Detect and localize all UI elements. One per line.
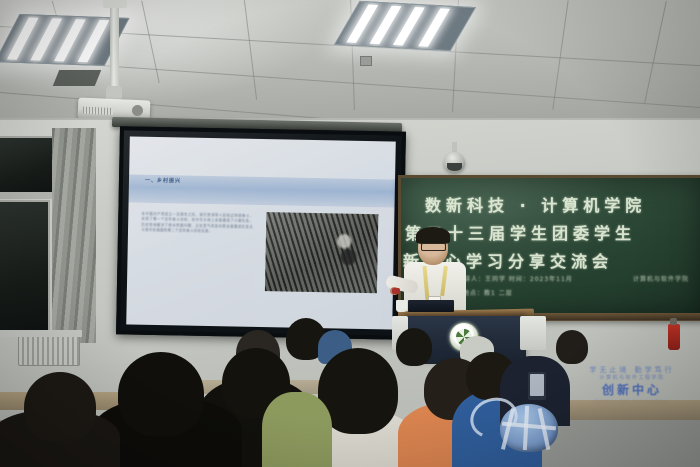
window-frame [0,192,56,199]
presenter-laptop[interactable] [408,300,454,312]
classroom-window [0,136,54,198]
red-laser-pointer [392,288,400,294]
classroom-window [0,200,50,336]
projection-screen[interactable]: 一、乡村振兴 在中国共产党成立一百周年之际，我们党领导人民经过持续奋斗，实现了第… [116,126,406,339]
fluorescent-panel-right [334,1,476,51]
audience-head [118,352,204,436]
poster-line-1: 学无止境 勤学笃行 [572,366,692,374]
blackboard-subline-1: 主讲人：王同学 时间：2023年11月 [457,274,573,283]
podium-panel-right [520,316,546,350]
projector-pole-flange [103,0,127,8]
window-sill [0,330,82,337]
classroom-photo: 一、乡村振兴 在中国共产党成立一百周年之际，我们党领导人民经过持续奋斗，实现了第… [0,0,700,467]
dome-security-camera [444,152,465,172]
blackboard-subline-2: 地点：教1 二层 [463,288,513,297]
fire-extinguisher-valve [670,318,677,325]
desk-phone-screen [530,374,544,396]
blackboard-line-1: 数新科技 · 计算机学院 [425,192,646,216]
audience-head [396,328,432,366]
slide-body-text: 在中国共产党成立一百周年之际，我们党领导人民经过持续奋斗，实现了第一个百年奋斗目… [141,212,253,235]
presentation-slide: 一、乡村振兴 在中国共产党成立一百周年之际，我们党领导人民经过持续奋斗，实现了第… [126,136,396,329]
desk-row-right [560,400,700,420]
ceiling-speaker [360,56,372,66]
wall-radiator [18,336,80,366]
fire-extinguisher [668,324,680,350]
slide-photo [265,212,378,293]
presenter-glasses [421,243,446,251]
slide-title: 一、乡村振兴 [145,177,181,185]
poster-line-2: 计算机与软件工程学院 [572,376,692,382]
audience-head [24,372,96,442]
audience-head [556,330,588,364]
presenter-hair [416,227,450,244]
blackboard-subline-3: 计算机与软件学院 [633,274,689,283]
projector-pole [110,0,119,88]
audience-shoulders-orange [262,392,332,467]
podium-cup [396,300,407,312]
window-curtain [52,128,96,343]
poster-line-3: 创新中心 [572,384,692,398]
ceiling-vent [53,70,101,86]
